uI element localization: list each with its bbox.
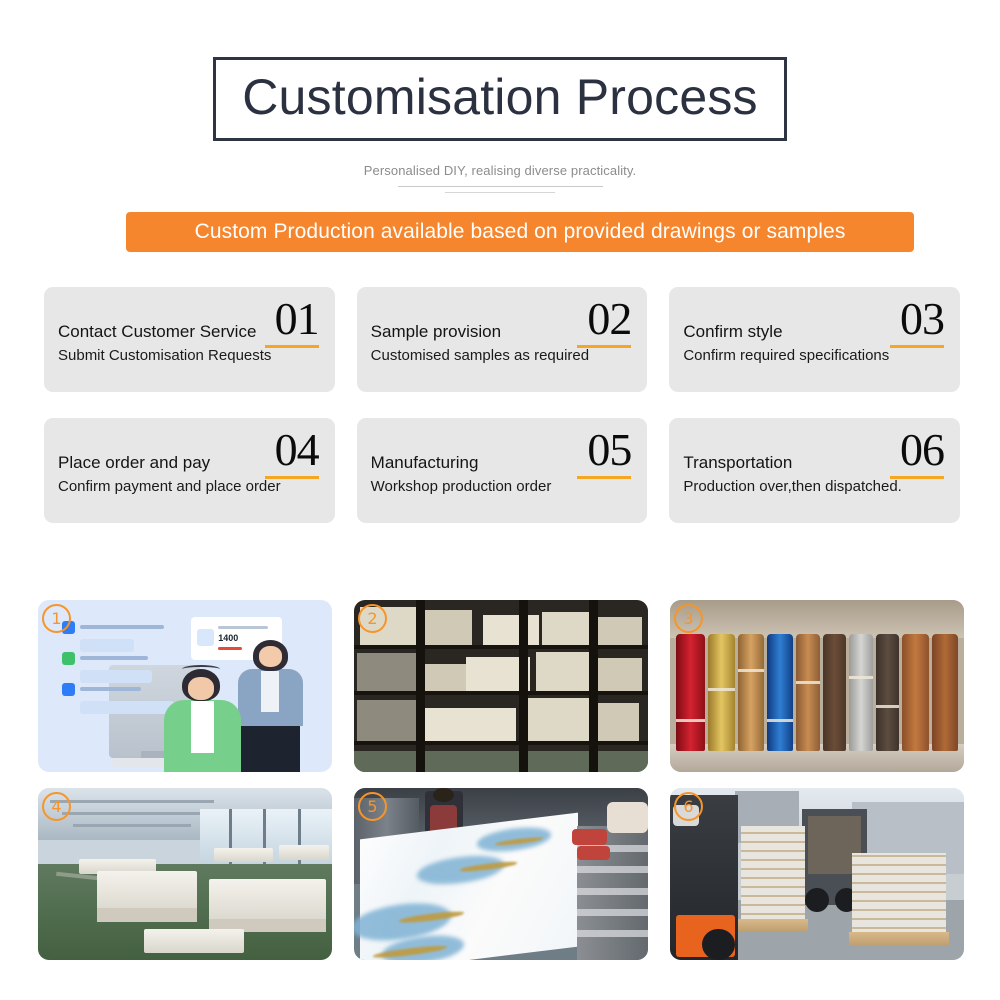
step-title-04: Place order and pay [58, 451, 325, 474]
step-card-body: Confirm style Confirm required specifica… [683, 320, 950, 367]
photo-badge-2: 2 [358, 604, 387, 633]
material-roll-blue [767, 634, 793, 751]
custom-production-banner: Custom Production available based on pro… [126, 212, 914, 252]
step-title-02: Sample provision [371, 320, 638, 343]
photo-badge-1: 1 [42, 604, 71, 633]
step-description-05: Workshop production order [371, 476, 638, 498]
page-title-box: Customisation Process [213, 57, 787, 141]
marble-panel-sheet [360, 812, 578, 960]
worker-right-glove [572, 829, 607, 844]
stacked-samples [598, 617, 642, 645]
stacked-samples [422, 610, 472, 644]
roll-band [767, 719, 793, 722]
process-photos-row-2: 4 [38, 788, 964, 960]
photo-tile-6[interactable]: 6 [670, 788, 964, 960]
panel-stack [214, 848, 273, 862]
truck-wheel [805, 888, 829, 912]
step-card-body: Transportation Production over,then disp… [683, 451, 950, 498]
chat-label [80, 687, 141, 691]
wooden-pallet [849, 932, 949, 944]
stacked-samples [525, 698, 593, 741]
warehouse-floor [354, 751, 648, 772]
worker-right-arm [607, 802, 648, 833]
sample-warehouse-shelves-photo [354, 600, 648, 772]
panel-stack [279, 845, 329, 860]
price-card-value: 1400 [218, 633, 238, 643]
forklift-loading-shipment-photo [670, 788, 964, 960]
material-roll-copper [796, 634, 820, 751]
process-steps-row-1: 01 Contact Customer Service Submit Custo… [44, 287, 960, 392]
material-roll-bronze [738, 634, 764, 751]
step-card-body: Sample provision Customised samples as r… [371, 320, 638, 367]
page-subtitle: Personalised DIY, realising diverse prac… [0, 163, 1000, 178]
ceiling-beam [62, 812, 203, 815]
customisation-process-page: Customisation Process Personalised DIY, … [0, 0, 1000, 1000]
chat-line [62, 683, 180, 696]
panel-stack-side [97, 908, 197, 922]
step-title-01: Contact Customer Service [58, 320, 325, 343]
step-title-03: Confirm style [683, 320, 950, 343]
material-roll-wood [902, 634, 928, 751]
stacked-samples [595, 703, 639, 741]
step-description-06: Production over,then dispatched. [683, 476, 950, 498]
factory-panel-production-photo [38, 788, 332, 960]
chat-app-icon [62, 652, 75, 665]
shelf-beam [354, 691, 648, 695]
step-card-body: Place order and pay Confirm payment and … [58, 451, 325, 498]
process-photos-row-1: 1400 1 [38, 600, 964, 772]
price-card-icon [197, 629, 213, 646]
palletised-cartons [852, 853, 946, 936]
stacked-samples [598, 658, 642, 691]
photo-badge-6: 6 [674, 792, 703, 821]
stacked-samples [483, 615, 539, 644]
chat-messages-group [62, 621, 180, 714]
customer-service-illustration: 1400 [38, 600, 332, 772]
photo-tile-1[interactable]: 1400 1 [38, 600, 332, 772]
price-card-discount [218, 647, 242, 650]
chat-app-icon [62, 683, 75, 696]
material-roll-gold [708, 634, 734, 751]
step-card-06[interactable]: 06 Transportation Production over,then d… [669, 418, 960, 523]
photo-tile-5[interactable]: 5 [354, 788, 648, 960]
agent-face [188, 677, 214, 699]
shelf-post [589, 600, 598, 772]
step-description-02: Customised samples as required [371, 345, 638, 367]
stacked-samples [542, 612, 595, 645]
shelf-post [416, 600, 425, 772]
ceiling-beam [73, 824, 191, 827]
ceiling-beam [50, 800, 215, 803]
shelf-beam [354, 645, 648, 649]
roller-bar [577, 866, 648, 873]
material-roll-silver [849, 634, 873, 751]
stacked-samples [419, 708, 516, 741]
stacked-samples [536, 652, 595, 692]
process-steps-row-2: 04 Place order and pay Confirm payment a… [44, 418, 960, 523]
stacked-samples [357, 700, 416, 741]
step-title-05: Manufacturing [371, 451, 638, 474]
roll-band [738, 669, 764, 672]
agent-headset [182, 665, 220, 674]
forklift-wheel [702, 929, 734, 960]
step-card-02[interactable]: 02 Sample provision Customised samples a… [357, 287, 648, 392]
material-roll-dark-wood [876, 634, 900, 751]
chat-bubble [80, 701, 174, 714]
material-roll-red [676, 634, 705, 751]
step-title-06: Transportation [683, 451, 950, 474]
photo-badge-5: 5 [358, 792, 387, 821]
step-description-03: Confirm required specifications [683, 345, 950, 367]
stacked-samples [357, 653, 416, 691]
roll-band [676, 719, 705, 722]
material-roll-brown [823, 634, 847, 751]
photo-badge-4: 4 [42, 792, 71, 821]
palletised-cartons [741, 826, 806, 922]
process-photos: 1400 1 [38, 600, 964, 976]
photo-tile-2[interactable]: 2 [354, 600, 648, 772]
stacked-samples [419, 664, 466, 692]
photo-tile-3[interactable]: 3 [670, 600, 964, 772]
price-card-label [218, 626, 268, 629]
roll-band [876, 705, 900, 708]
step-card-body: Contact Customer Service Submit Customis… [58, 320, 325, 367]
worker-left-head [433, 788, 454, 802]
step-card-04[interactable]: 04 Place order and pay Confirm payment a… [44, 418, 335, 523]
roll-band [849, 676, 873, 679]
step-description-04: Confirm payment and place order [58, 476, 325, 498]
manager-legs [241, 720, 300, 772]
chat-line [62, 621, 180, 634]
step-card-01[interactable]: 01 Contact Customer Service Submit Custo… [44, 287, 335, 392]
photo-badge-3: 3 [674, 604, 703, 633]
roller-bar [577, 909, 648, 916]
process-steps: 01 Contact Customer Service Submit Custo… [44, 287, 960, 549]
shelf-beam [354, 741, 648, 745]
roller-bar [577, 888, 648, 895]
worker-right-glove [577, 846, 609, 860]
step-description-01: Submit Customisation Requests [58, 345, 325, 367]
shelf-post [519, 600, 528, 772]
step-card-05[interactable]: 05 Manufacturing Workshop production ord… [357, 418, 648, 523]
panel-single [144, 929, 244, 953]
page-header: Customisation Process [0, 57, 1000, 141]
marble-panel-printing-line-photo [354, 788, 648, 960]
roller-bar [577, 930, 648, 937]
subtitle-divider-short [445, 192, 555, 193]
photo-tile-4[interactable]: 4 [38, 788, 332, 960]
background-shelf [670, 600, 964, 638]
page-title: Customisation Process [242, 66, 758, 128]
panel-stack [209, 879, 327, 924]
manager-shirt [261, 671, 279, 712]
chat-bubble [80, 639, 134, 652]
agent-shirt [191, 701, 215, 753]
chat-bubble [80, 670, 153, 683]
chat-label [80, 625, 165, 629]
manager-face [259, 646, 283, 667]
step-card-body: Manufacturing Workshop production order [371, 451, 638, 498]
subtitle-divider-long [398, 186, 603, 187]
chat-line [62, 652, 180, 665]
material-roll-wood [932, 634, 958, 751]
chat-label [80, 656, 148, 660]
roll-band [708, 688, 734, 691]
roll-band [796, 681, 820, 684]
wooden-pallet [738, 919, 809, 931]
material-colour-rolls-photo [670, 600, 964, 772]
custom-production-banner-text: Custom Production available based on pro… [195, 220, 846, 244]
step-card-03[interactable]: 03 Confirm style Confirm required specif… [669, 287, 960, 392]
